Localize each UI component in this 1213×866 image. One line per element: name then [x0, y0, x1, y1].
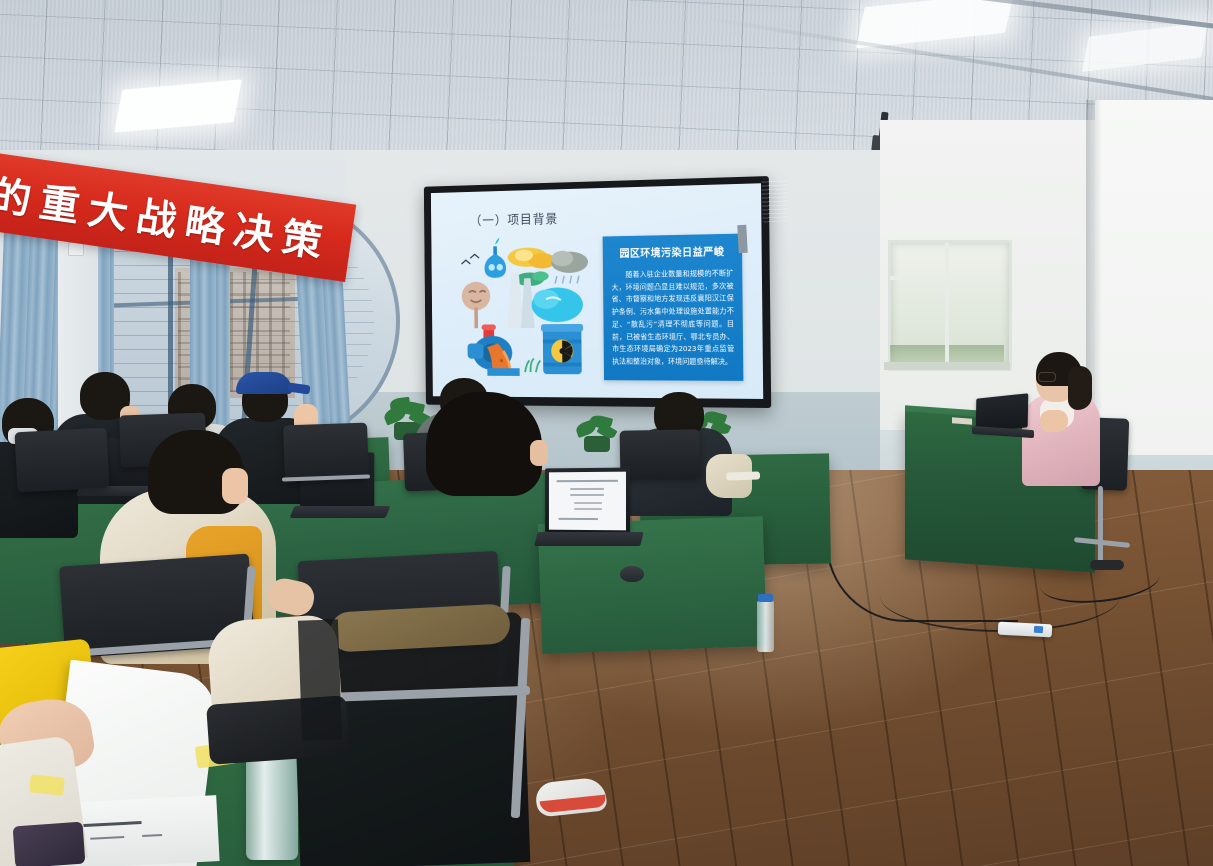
attendee-ear: [530, 440, 548, 466]
meeting-room-photo: 的重大战略决策 （一）项目背景: [0, 0, 1213, 866]
paper-on-table: [726, 471, 760, 480]
callout-title: 园区环境污染日益严峻: [603, 244, 742, 261]
pollution-illustration-svg: [456, 235, 593, 380]
glasses-icon: [1038, 372, 1056, 382]
attendee-hair: [426, 392, 542, 496]
bottle-cap: [758, 594, 773, 602]
sticky-note: [29, 774, 65, 795]
display-mount: [737, 225, 747, 253]
computer-mouse[interactable]: [620, 566, 644, 582]
pollution-illustration: [456, 235, 593, 380]
chair-leg: [1098, 486, 1103, 564]
callout-body: 随着入驻企业数量和规模的不断扩大，环境问题凸显且难以规范，多次被省、市督察和地方…: [611, 268, 734, 369]
chair-post: [298, 619, 342, 740]
chair[interactable]: [283, 423, 369, 482]
slide-canvas: （一）项目背景: [431, 183, 763, 399]
power-adapter: [1090, 560, 1124, 570]
window-sill: [884, 362, 1010, 370]
presenter-ponytail: [1068, 366, 1092, 410]
phone-or-notebook[interactable]: [13, 822, 86, 866]
attendee-face: [222, 468, 248, 504]
slide-title: （一）项目背景: [470, 209, 558, 229]
presenter-hands: [1040, 410, 1068, 432]
slide-callout-box: 园区环境污染日益严峻 随着入驻企业数量和规模的不断扩大，环境问题凸显且难以规范，…: [603, 234, 744, 381]
window-mullion: [945, 243, 949, 362]
floor-power-strip[interactable]: [998, 622, 1053, 638]
blue-cap: [236, 372, 292, 394]
papers-on-table: [952, 417, 972, 424]
chair[interactable]: [620, 429, 701, 478]
wall-speaker: [761, 178, 789, 223]
window-mullion: [890, 276, 1004, 280]
presentation-display[interactable]: （一）项目背景: [424, 176, 771, 408]
water-bottle-small[interactable]: [757, 600, 774, 652]
power-strip-switch[interactable]: [1034, 626, 1043, 633]
laptop-base[interactable]: [290, 506, 391, 518]
chair[interactable]: [14, 428, 109, 493]
